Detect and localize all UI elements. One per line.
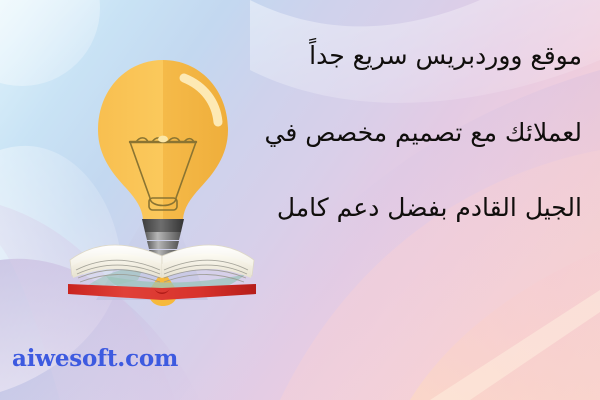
bg-swoosh-peach xyxy=(410,250,600,400)
headline-line-1: موقع ووردبريس سريع جداً xyxy=(210,42,582,71)
bulb-collar xyxy=(142,219,184,232)
filament-node xyxy=(158,136,168,143)
watermark-aiwesoft: aiwesoft.com xyxy=(12,345,178,372)
bg-streak xyxy=(430,290,600,400)
headline-copy: موقع ووردبريس سريع جداً لعملائك مع تصميم… xyxy=(210,42,582,222)
headline-line-2: لعملائك مع تصميم مخصص في xyxy=(210,119,582,148)
promo-banner: موقع ووردبريس سريع جداً لعملائك مع تصميم… xyxy=(0,0,600,400)
headline-line-3: الجيل القادم بفضل دعم كامل xyxy=(210,194,582,223)
